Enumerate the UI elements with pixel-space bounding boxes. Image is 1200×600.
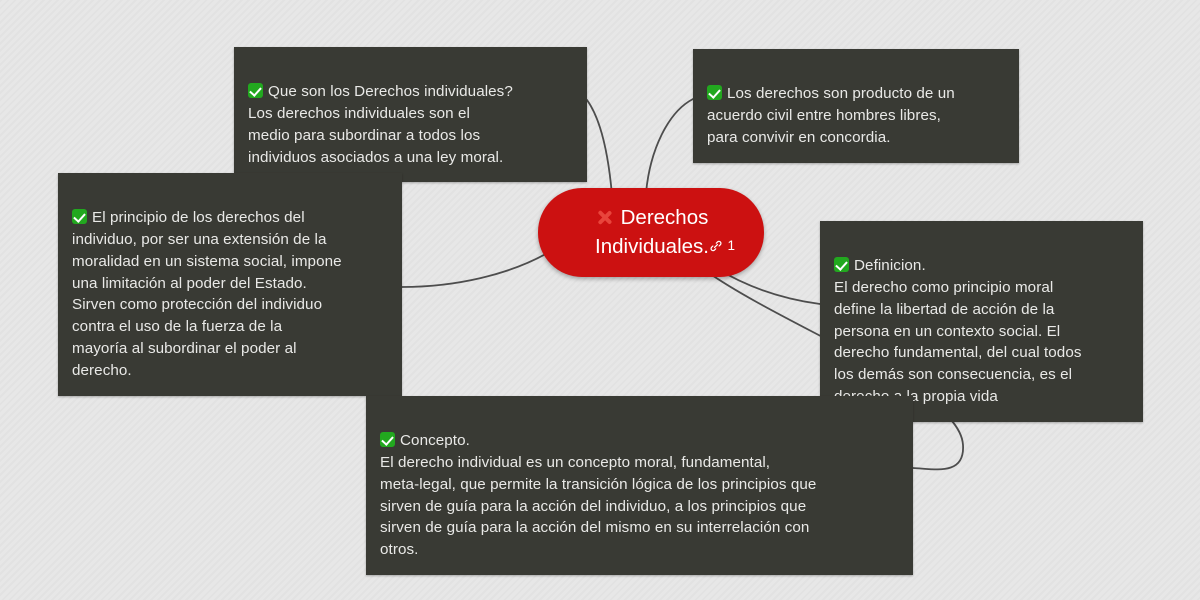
mindmap-canvas[interactable]: Que son los Derechos individuales? Los d… — [0, 0, 1200, 600]
check-mark-button-emoji — [380, 432, 395, 447]
note-text: Que son los Derechos individuales? Los d… — [248, 83, 513, 166]
note-text: Concepto. El derecho individual es un co… — [380, 432, 816, 558]
check-mark-button-emoji — [72, 209, 87, 224]
note-text: Definicion. El derecho como principio mo… — [834, 257, 1082, 405]
note-text: Los derechos son producto de un acuerdo … — [707, 85, 955, 146]
connector-to-note-principio — [402, 251, 551, 287]
central-topic-node[interactable]: Derechos Individuales. 1 — [538, 188, 764, 277]
link-count: 1 — [727, 238, 735, 253]
link-chain-icon — [709, 239, 723, 253]
check-mark-button-emoji — [707, 85, 722, 100]
note-que-son[interactable]: Que son los Derechos individuales? Los d… — [234, 47, 587, 182]
link-badge[interactable]: 1 — [709, 238, 735, 253]
note-text: El principio de los derechos del individ… — [72, 209, 342, 379]
note-acuerdo-civil[interactable]: Los derechos son producto de un acuerdo … — [693, 49, 1019, 163]
note-principio[interactable]: El principio de los derechos del individ… — [58, 173, 402, 396]
connector-to-note-acuerdo-civil — [646, 99, 693, 193]
note-concepto[interactable]: Concepto. El derecho individual es un co… — [366, 396, 913, 575]
connector-to-note-que-son — [587, 100, 612, 195]
check-mark-button-emoji — [248, 83, 263, 98]
cross-mark-emoji — [596, 208, 615, 227]
check-mark-button-emoji — [834, 257, 849, 272]
note-definicion[interactable]: Definicion. El derecho como principio mo… — [820, 221, 1143, 422]
